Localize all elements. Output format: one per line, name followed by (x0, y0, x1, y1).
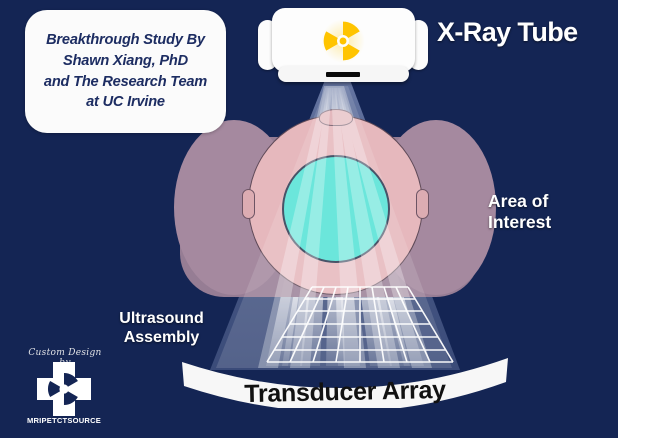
label-xray-tube: X-Ray Tube (437, 16, 578, 48)
study-callout-box: Breakthrough Study By Shawn Xiang, PhD a… (25, 10, 226, 133)
tube-collimator-slit (326, 72, 360, 77)
radiation-trefoil-icon (320, 18, 366, 64)
diagram-canvas: Breakthrough Study By Shawn Xiang, PhD a… (0, 0, 649, 438)
label-ultrasound-assembly: Ultrasound Assembly (104, 309, 219, 347)
ear-left-shape (242, 189, 255, 219)
nose-shape (319, 109, 353, 126)
label-area-of-interest: Area of Interest (488, 191, 551, 233)
transducer-array-banner: Transducer Array (180, 348, 510, 408)
xray-tube-assembly (258, 6, 428, 86)
right-white-band (618, 0, 649, 438)
area-of-interest-circle (282, 155, 390, 263)
study-callout-text: Breakthrough Study By Shawn Xiang, PhD a… (38, 30, 213, 113)
logo-brand-name: MRIPETCTSOURCE (22, 416, 106, 425)
cross-with-radiation-icon (22, 360, 106, 416)
logo-mripetctsource: Custom Design by MRIPETCTSOURCE (22, 348, 106, 432)
ear-right-shape (416, 189, 429, 219)
navy-background: Breakthrough Study By Shawn Xiang, PhD a… (0, 0, 618, 438)
